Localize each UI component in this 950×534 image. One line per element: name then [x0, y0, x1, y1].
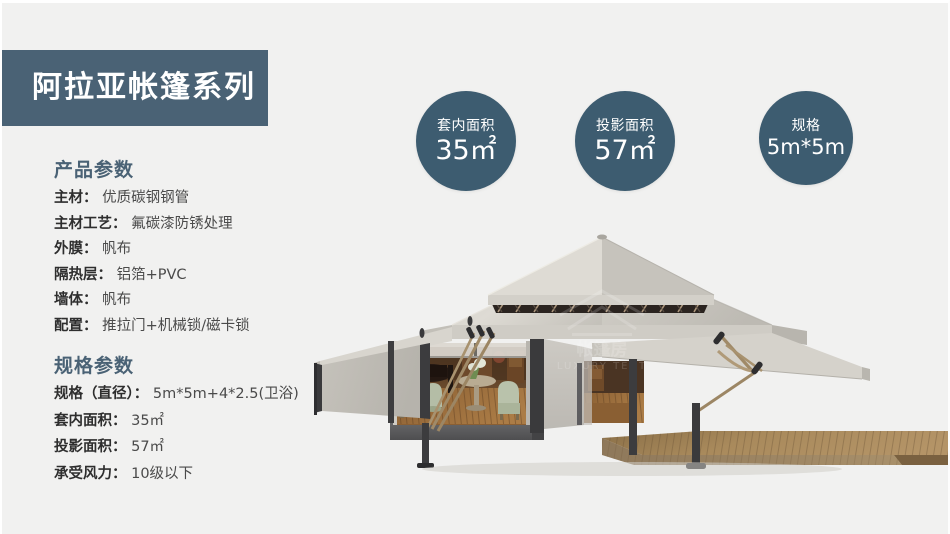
spec-label: 承受风力：: [54, 466, 127, 482]
tent-illustration: 帐篷房 LUXURY TENT: [302, 233, 950, 523]
spec-value: 10级以下: [131, 466, 193, 482]
spec-label: 主材工艺：: [54, 216, 127, 232]
spec-value: 帆布: [102, 292, 131, 308]
slide-root: 阿拉亚帐篷系列 产品参数 主材： 优质碳钢钢管 主材工艺： 氟碳漆防锈处理 外膜…: [0, 0, 950, 534]
spec-value: 铝箔+PVC: [117, 267, 187, 283]
spec-value: 57㎡: [131, 439, 164, 455]
spec-value: 帆布: [102, 241, 131, 257]
badge-dimensions: 规格 5m*5m: [759, 91, 853, 185]
badge-interior-area: 套内面积 35㎡: [416, 91, 516, 191]
spec-label: 墙体：: [54, 292, 98, 308]
badge-projected-area: 投影面积 57㎡: [575, 91, 675, 191]
wood-deck: [602, 431, 950, 465]
badge-value: 35㎡: [435, 137, 496, 164]
spec-value: 氟碳漆防锈处理: [131, 216, 233, 232]
spec-value: 35㎡: [131, 413, 164, 429]
tent-upper-roof: [488, 235, 714, 314]
badge-label: 投影面积: [596, 119, 654, 133]
spec-label: 主材：: [54, 190, 98, 206]
spec-value: 优质碳钢钢管: [102, 190, 189, 206]
page-title: 阿拉亚帐篷系列: [6, 73, 264, 103]
spec-value: 推拉门+机械锁/磁卡锁: [102, 318, 250, 334]
spec-row: 主材工艺： 氟碳漆防锈处理: [54, 217, 354, 232]
badge-value: 57㎡: [594, 137, 655, 164]
spec-label: 外膜：: [54, 241, 98, 257]
spec-value: 5m*5m+4*2.5(卫浴): [153, 386, 299, 402]
product-params-heading: 产品参数: [54, 155, 354, 182]
spec-label: 规格（直径）：: [54, 386, 148, 402]
badge-label: 套内面积: [437, 119, 495, 133]
spec-label: 配置：: [54, 318, 98, 334]
spec-label: 套内面积：: [54, 413, 127, 429]
spec-row: 主材： 优质碳钢钢管: [54, 191, 354, 206]
spec-label: 隔热层：: [54, 267, 112, 283]
badge-label: 规格: [792, 119, 821, 133]
spec-label: 投影面积：: [54, 439, 127, 455]
badge-value: 5m*5m: [767, 137, 845, 158]
title-banner: 阿拉亚帐篷系列: [2, 50, 268, 126]
watermark-text: 帐篷房: [577, 339, 628, 360]
